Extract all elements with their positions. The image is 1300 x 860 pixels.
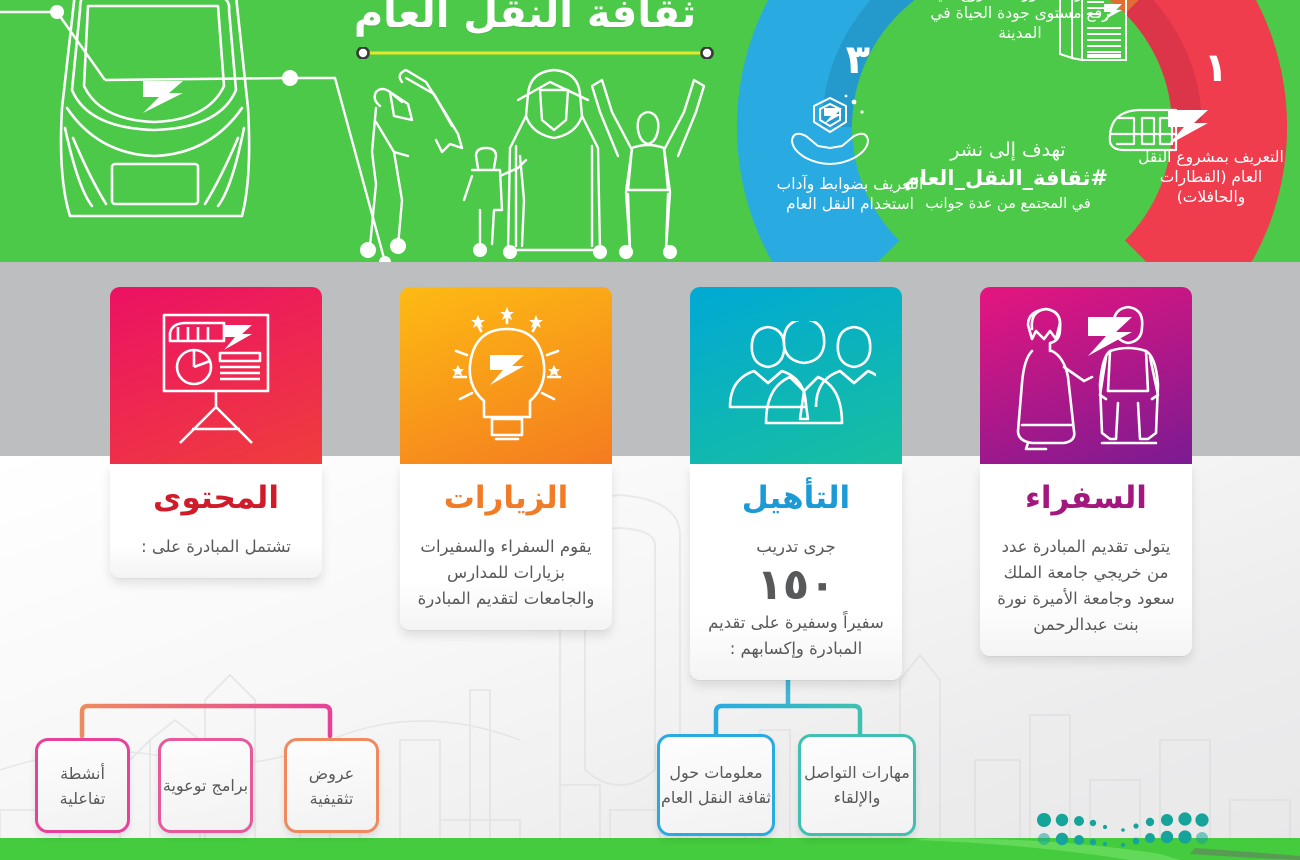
card-visits-text: يقوم السفراء والسفيرات بزيارات للمدارس و… [414,534,598,612]
subbox-qualification-communication-skills-label: مهارات التواصل والإلقاء [801,760,913,810]
subbox-content-educational-offers-label: عروض تثقيفية [287,761,376,811]
card-content-title: المحتوى [124,478,308,518]
card-visits-body: الزيارات يقوم السفراء والسفيرات بزيارات … [400,464,612,630]
donut-center-line1: تهدف إلى نشر [908,138,1108,163]
title-underline-rule [355,47,715,59]
card-content[interactable]: المحتوى تشتمل المبادرة على : [110,287,322,578]
card-visits-title: الزيارات [414,478,598,518]
subbox-qualification-transport-info-label: معلومات حول ثقافة النقل العام [660,760,772,810]
card-qualification-title: التأهيل [704,478,888,518]
card-visits-header [400,287,612,464]
saudi-transport-dots-logo [1028,810,1228,852]
subbox-content-interactive-activities[interactable]: أنشطة تفاعلية [35,738,130,833]
card-ambassadors-body: السفراء يتولى تقديم المبادرة عدد من خريج… [980,464,1192,656]
card-ambassadors-title: السفراء [994,478,1178,518]
subbox-qualification-transport-info[interactable]: معلومات حول ثقافة النقل العام [657,734,775,836]
card-content-body: المحتوى تشتمل المبادرة على : [110,464,322,578]
card-qualification[interactable]: التأهيل جرى تدريب ١٥٠ سفيراً وسفيرة على … [690,287,902,680]
donut-segment-1-label: التعريف بمشروع النقل العام (القطارات وال… [1136,148,1286,207]
three-people-icon [718,321,876,429]
hands-care-icon [784,92,876,166]
lightbulb-icon [448,307,566,447]
card-qualification-text: جرى تدريب [704,534,888,560]
card-qualification-number: ١٥٠ [704,560,888,610]
page-title-text: ثقافة النقل العام [335,0,715,40]
subbox-qualification-communication-skills[interactable]: مهارات التواصل والإلقاء [798,734,916,836]
donut-center-label: تهدف إلى نشر #ثقافة_النقل_العام في المجت… [908,138,1108,215]
card-content-header [110,287,322,464]
subbox-content-awareness-programs-label: برامج توعوية [163,773,248,798]
card-qualification-header [690,287,902,464]
card-qualification-text-after: سفيراً وسفيرة على تقديم المبادرة وإكسابه… [704,610,888,662]
card-ambassadors-text: يتولى تقديم المبادرة عدد من خريجي جامعة … [994,534,1178,638]
card-content-text: تشتمل المبادرة على : [124,534,308,560]
presentation-board-icon [158,311,276,447]
card-visits[interactable]: الزيارات يقوم السفراء والسفيرات بزيارات … [400,287,612,630]
donut-segment-3-number: ٣ [846,40,870,80]
donut-segment-1-number: ١ [1204,48,1228,88]
subbox-content-interactive-activities-label: أنشطة تفاعلية [38,761,127,811]
donut-segment-2-label: التعريف بدور المشروع في رفع مستوى جودة ا… [930,0,1110,43]
page-title: ثقافة النقل العام [335,0,715,40]
card-ambassadors[interactable]: السفراء يتولى تقديم المبادرة عدد من خريج… [980,287,1192,656]
card-qualification-body: التأهيل جرى تدريب ١٥٠ سفيراً وسفيرة على … [690,464,902,680]
subbox-content-educational-offers[interactable]: عروض تثقيفية [284,738,379,833]
card-ambassadors-header [980,287,1192,464]
subbox-content-awareness-programs[interactable]: برامج توعوية [158,738,253,833]
donut-center-hashtag: #ثقافة_النقل_العام [908,163,1108,193]
people-illustration [350,60,730,262]
two-people-icon [1006,303,1166,453]
infographic-root: ثقافة النقل العام [0,0,1300,860]
donut-center-line3: في المجتمع من عدة جوانب [908,193,1108,215]
